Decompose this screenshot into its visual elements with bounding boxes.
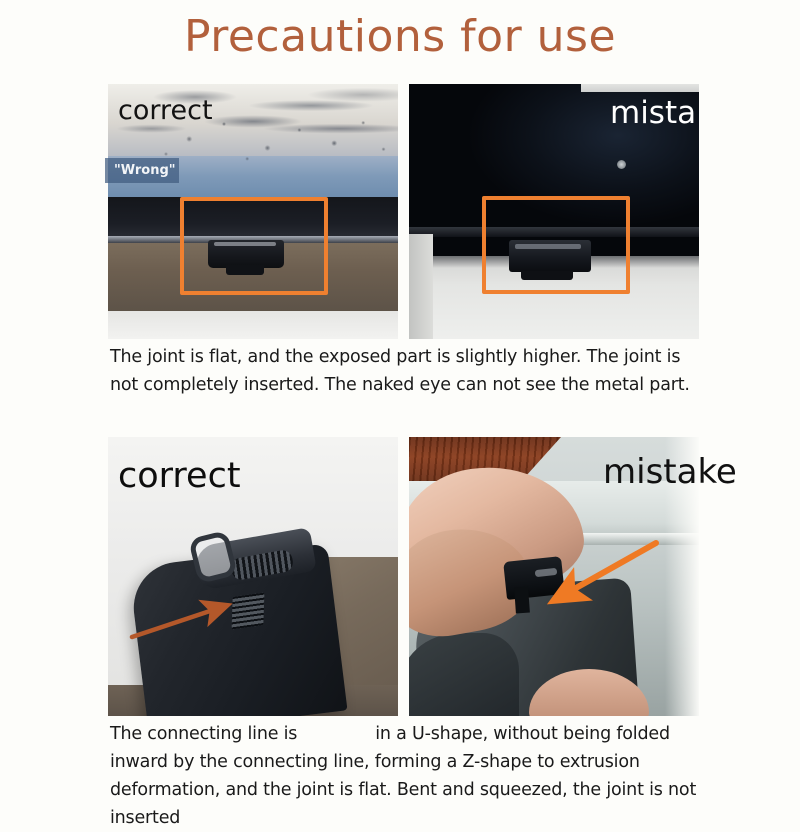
label-correct-top-left: correct [118, 96, 213, 126]
page-title: Precautions for use [0, 8, 800, 66]
label-correct-bottom-left: correct [118, 456, 241, 496]
label-mistake-bottom-right: mistake [603, 452, 737, 492]
highlight-rectangle-top-left [180, 197, 328, 295]
floor-surface [108, 311, 398, 339]
screen-top-strip [581, 84, 699, 92]
caption-top: The joint is flat, and the exposed part … [110, 343, 710, 399]
label-mistake-top-right: mista [610, 96, 696, 130]
wrong-overlay-badge: "Wrong" [105, 158, 179, 183]
caption-top-line1: The joint is flat, and the exposed part … [110, 347, 680, 367]
arrow-pointing-to-bent-joint [534, 537, 674, 627]
wrong-overlay-badge-label: "Wrong" [105, 163, 176, 178]
highlight-rectangle-top-right [482, 196, 630, 294]
device-dark-section [409, 633, 519, 716]
caption-bottom: The connecting line isin a U-shape, with… [110, 720, 720, 832]
arrow-pointing-to-u-loop [124, 587, 254, 657]
wall-left [409, 234, 433, 339]
caption-bottom-line1-a: The connecting line is [110, 724, 297, 744]
bent-joint-stem [514, 587, 530, 614]
caption-top-line2: not completely inserted. The naked eye c… [110, 375, 690, 395]
screen-reflection-dot [617, 160, 626, 169]
